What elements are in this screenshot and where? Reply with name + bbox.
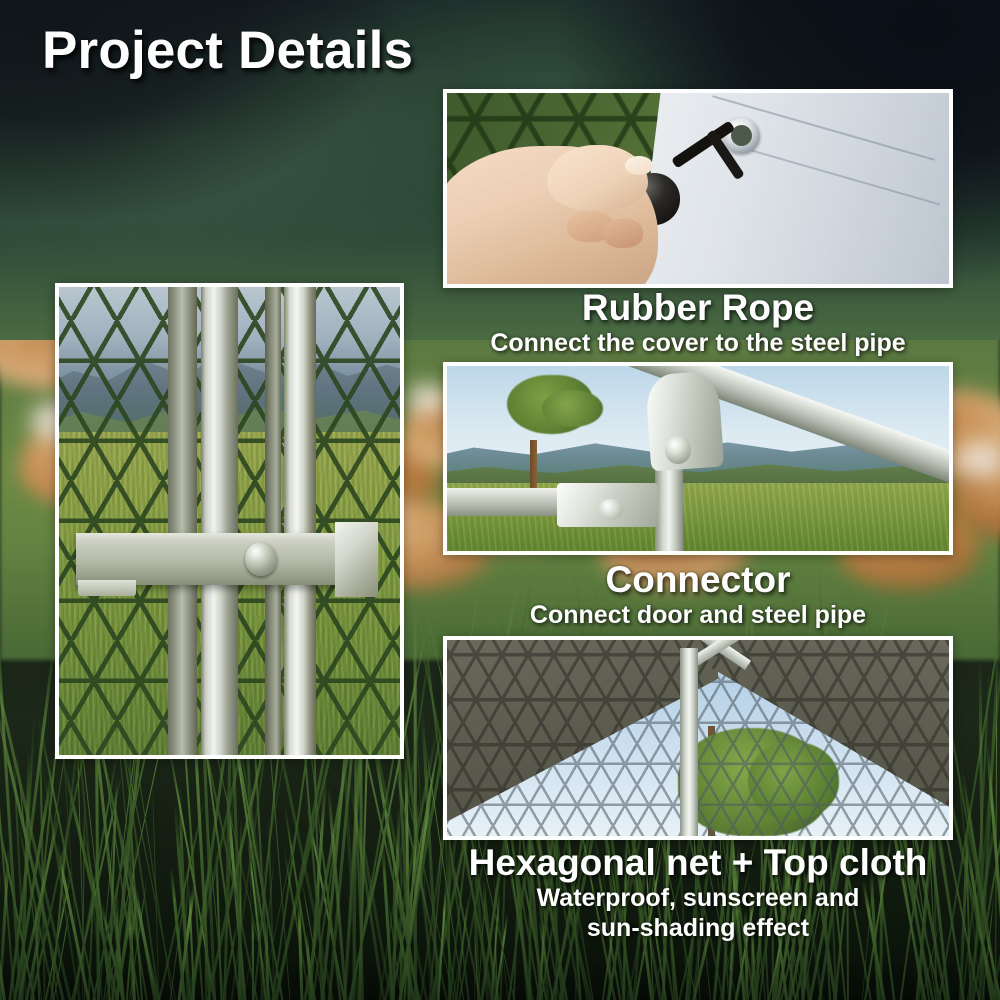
caption-connector-heading: Connector [443, 560, 953, 600]
caption-hex-net-subtitle-line-1: Waterproof, sunscreen and [420, 883, 976, 914]
door-lock-photo [55, 283, 404, 759]
connector-photo [443, 362, 953, 555]
caption-hex-net-heading: Hexagonal net + Top cloth [420, 843, 976, 883]
caption-connector-subtitle: Connect door and steel pipe [443, 600, 953, 631]
hex-net-photo [443, 636, 953, 840]
caption-rubber-rope-heading: Rubber Rope [443, 288, 953, 328]
product-detail-image: Project Details [0, 0, 1000, 1000]
rubber-rope-photo [443, 89, 953, 288]
caption-rubber-rope: Rubber Rope Connect the cover to the ste… [443, 288, 953, 358]
caption-hex-net: Hexagonal net + Top cloth Waterproof, su… [420, 843, 976, 944]
caption-rubber-rope-subtitle: Connect the cover to the steel pipe [443, 328, 953, 359]
caption-hex-net-subtitle-line-2: sun-shading effect [420, 913, 976, 944]
page-title: Project Details [42, 20, 413, 81]
caption-connector: Connector Connect door and steel pipe [443, 560, 953, 630]
